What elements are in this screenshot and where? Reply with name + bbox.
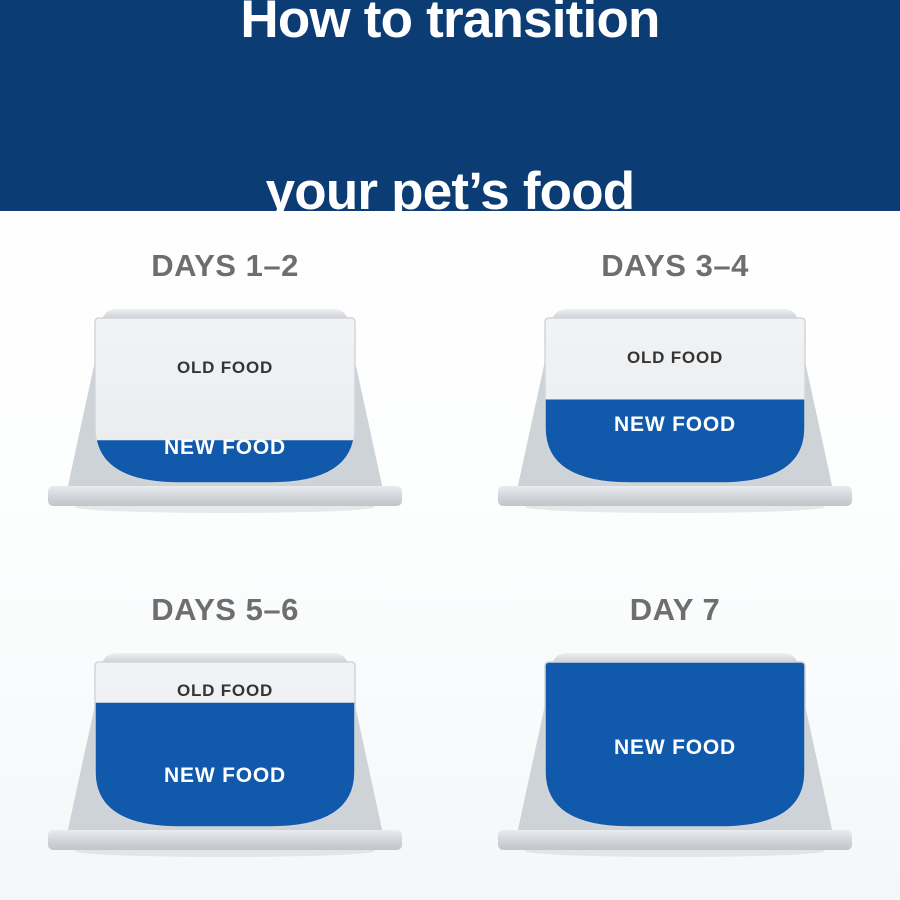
bowl-days-1-2: OLD FOOD NEW FOOD	[40, 300, 410, 515]
bowl-illustration-icon	[490, 300, 860, 515]
page-title-line-1: How to transition	[240, 0, 659, 48]
stage-days-5-6: DAYS 5–6	[0, 555, 450, 900]
bowl-days-3-4: OLD FOOD NEW FOOD	[490, 300, 860, 515]
bowl-day-7: NEW FOOD	[490, 644, 860, 859]
stage-label-day-7: DAY 7	[630, 594, 720, 625]
stage-label-days-1-2: DAYS 1–2	[151, 250, 299, 281]
infographic-page: How to transition your pet’s food DAYS 1…	[0, 0, 900, 900]
stages-grid: DAYS 1–2	[0, 211, 900, 900]
stage-days-1-2: DAYS 1–2	[0, 211, 450, 555]
header-band: How to transition your pet’s food	[0, 0, 900, 211]
bowl-days-5-6: OLD FOOD NEW FOOD	[40, 644, 410, 859]
stage-label-days-5-6: DAYS 5–6	[151, 594, 299, 625]
bowl-illustration-icon	[490, 644, 860, 859]
new-food-fill	[90, 703, 360, 840]
stage-label-days-3-4: DAYS 3–4	[601, 250, 749, 281]
stage-days-3-4: DAYS 3–4	[450, 211, 900, 555]
stage-day-7: DAY 7	[450, 555, 900, 900]
new-food-fill	[540, 658, 810, 840]
bowl-illustration-icon	[40, 300, 410, 515]
bowl-illustration-icon	[40, 644, 410, 859]
